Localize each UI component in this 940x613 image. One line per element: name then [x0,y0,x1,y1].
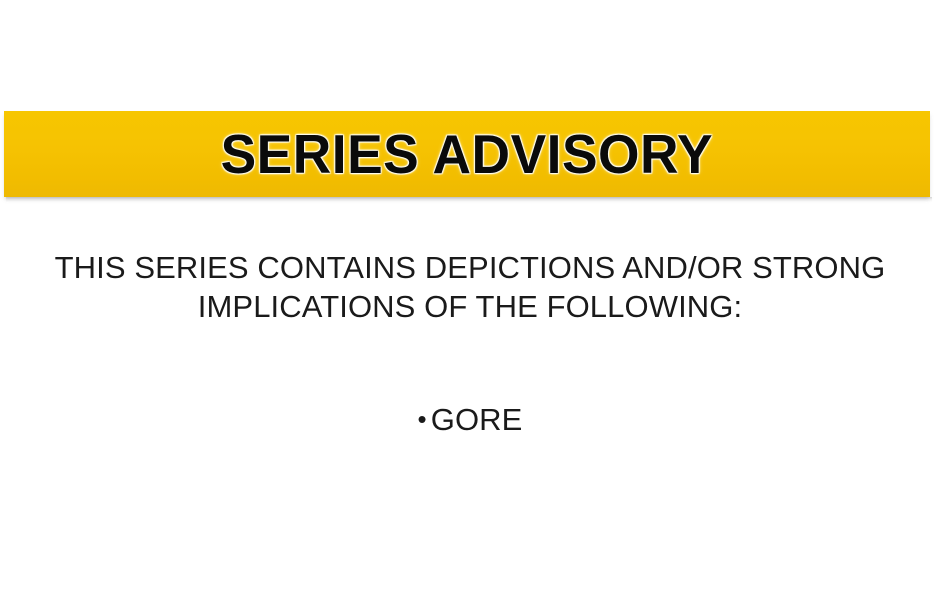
series-advisory-slide: SERIES ADVISORY THIS SERIES CONTAINS DEP… [0,0,940,613]
advisory-banner-shadow [6,197,932,202]
advisory-line-1: THIS SERIES CONTAINS DEPICTIONS AND/OR S… [0,248,940,287]
page-title: SERIES ADVISORY [4,125,930,183]
advisory-body: THIS SERIES CONTAINS DEPICTIONS AND/OR S… [0,248,940,439]
advisory-line-2: IMPLICATIONS OF THE FOLLOWING: [0,287,940,326]
advisory-bullet-list: •GORE [0,400,940,439]
bullet-dot-icon: • [418,404,431,434]
page-title-text: SERIES ADVISORY [221,125,713,183]
list-item: •GORE [0,400,940,439]
bullet-item-label: GORE [431,402,523,437]
advisory-banner: SERIES ADVISORY [4,111,930,197]
